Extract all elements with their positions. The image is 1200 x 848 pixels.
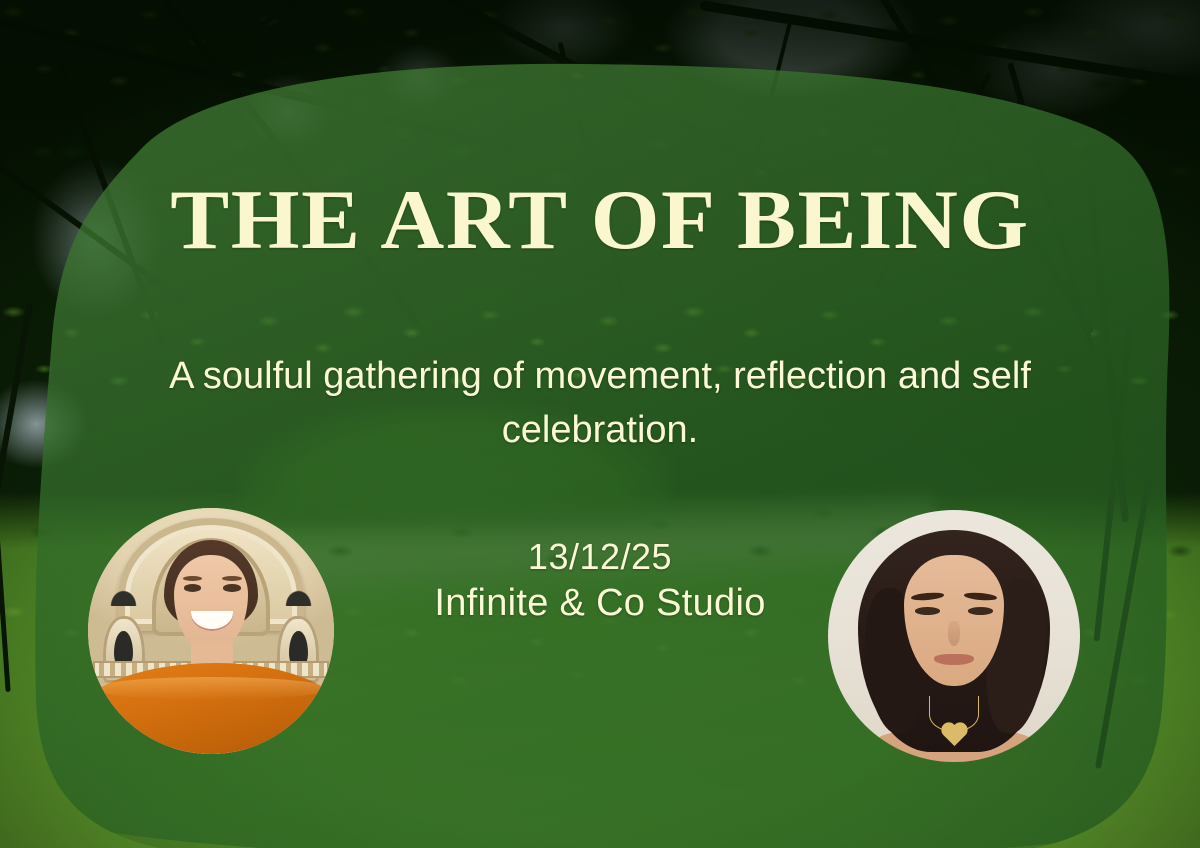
right-portrait-eye-right [968,607,993,615]
left-portrait-eye-right [223,584,240,591]
poster-subtitle: A soulful gathering of movement, reflect… [110,350,1090,458]
poster-content: THE ART OF BEING A soulful gathering of … [0,0,1200,848]
right-portrait-eye-left [915,607,940,615]
left-portrait-brow-right [222,576,242,581]
portrait-facilitator-right [828,510,1080,762]
left-portrait-brow-left [183,576,203,581]
portrait-facilitator-left [88,508,334,754]
left-portrait-eye-left [184,584,201,591]
poster-title: THE ART OF BEING [0,178,1200,263]
orange-shawl [88,663,334,754]
event-poster: THE ART OF BEING A soulful gathering of … [0,0,1200,848]
